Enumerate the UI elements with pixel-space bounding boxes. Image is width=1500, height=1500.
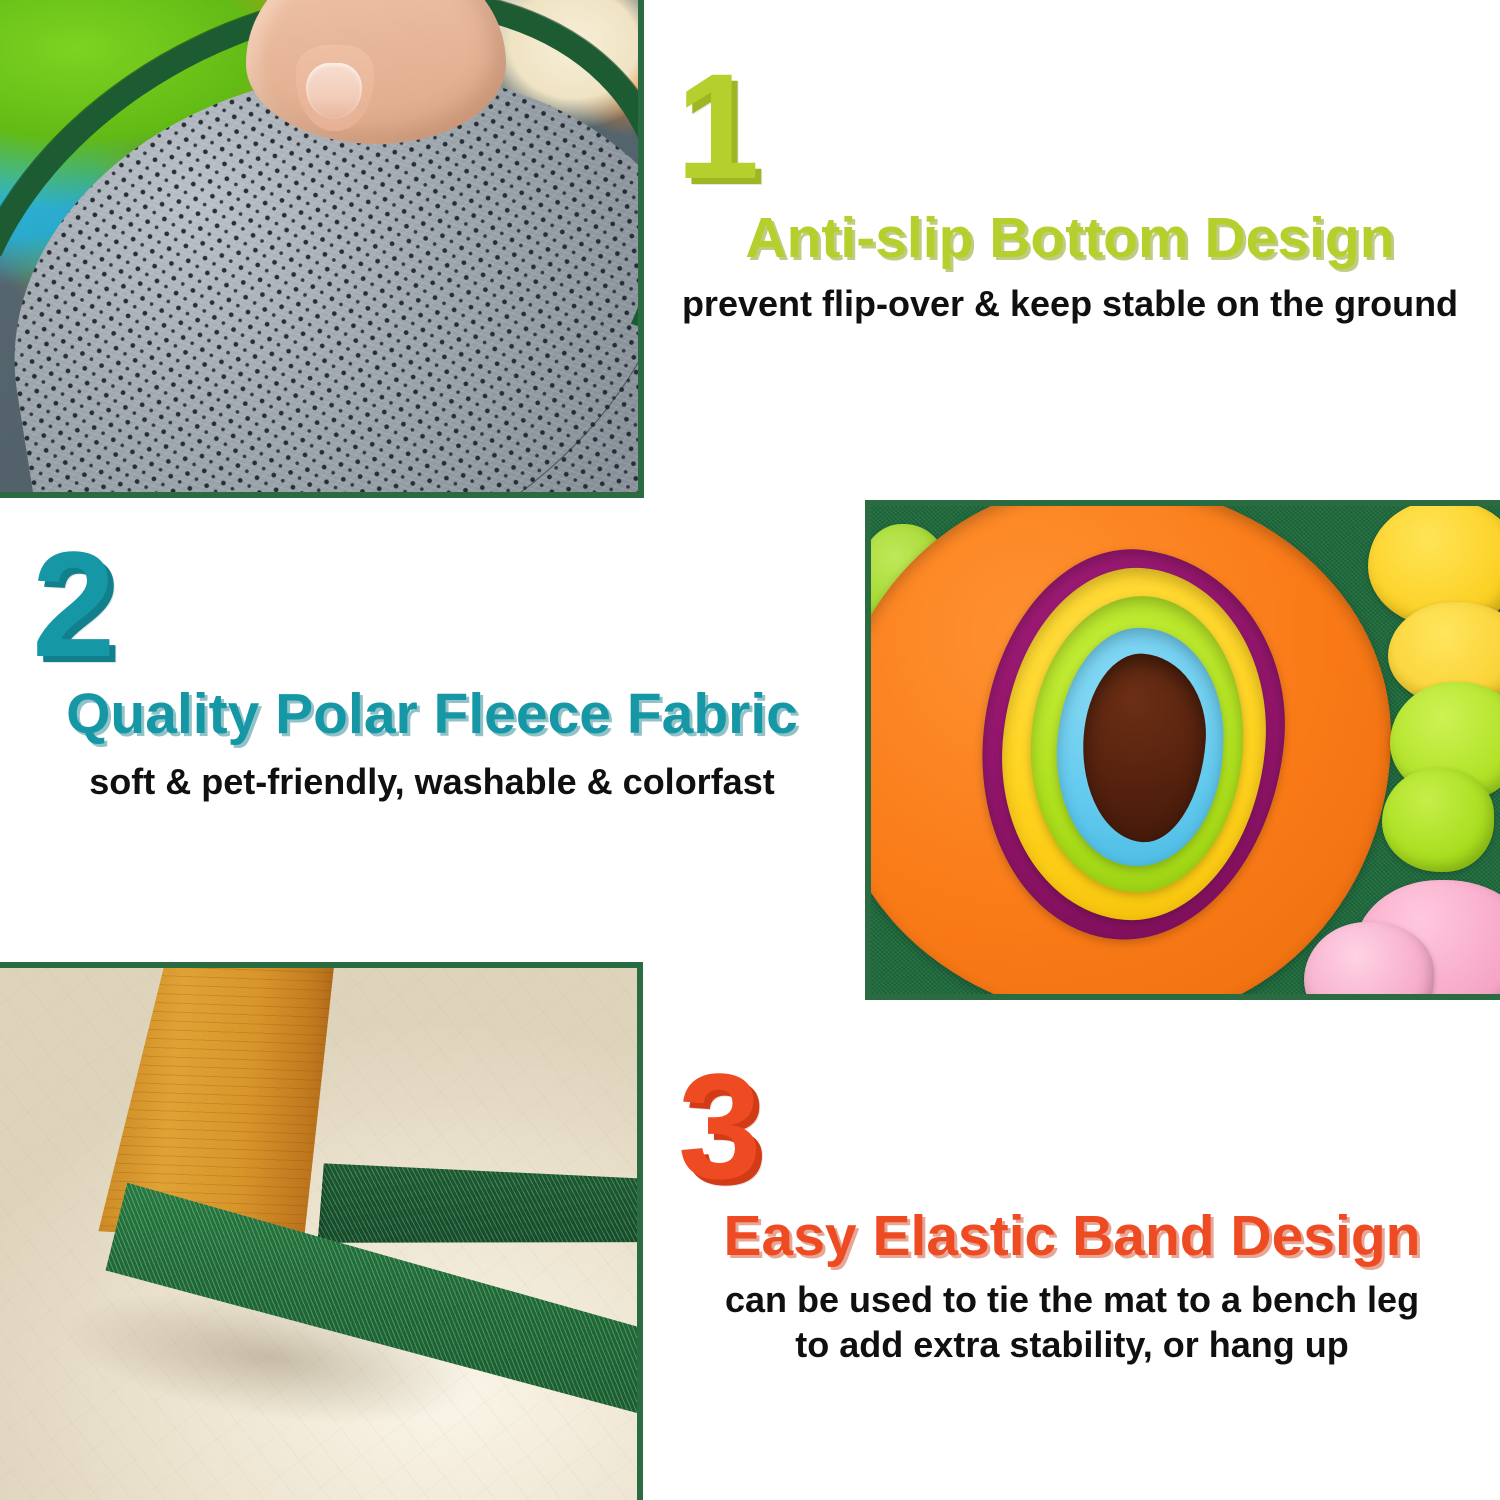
feature-subtitle-2-line-1: soft & pet-friendly, washable & colorfas… [22, 759, 842, 804]
feature-number-1: 1 [676, 62, 1480, 191]
feature-block-3: 3 Easy Elastic Band Design can be used t… [662, 1062, 1482, 1368]
feature-title-3: Easy Elastic Band Design [662, 1207, 1482, 1265]
anti-slip-bottom-photo [0, 0, 644, 498]
fleece-flower-closeup-photo [865, 500, 1500, 1000]
feature-block-2: 2 Quality Polar Fleece Fabric soft & pet… [22, 540, 842, 804]
lime-petal-lower [1382, 768, 1494, 872]
feature-subtitle-3-line-1: can be used to tie the mat to a bench le… [662, 1277, 1482, 1322]
feature-title-1: Anti-slip Bottom Design [660, 209, 1480, 267]
feature-number-2: 2 [32, 540, 842, 669]
feature-subtitle-3: can be used to tie the mat to a bench le… [662, 1277, 1482, 1368]
infographic-canvas: 1 Anti-slip Bottom Design prevent flip-o… [0, 0, 1500, 1500]
feature-block-1: 1 Anti-slip Bottom Design prevent flip-o… [660, 62, 1480, 326]
feature-subtitle-2: soft & pet-friendly, washable & colorfas… [22, 759, 842, 804]
feature-subtitle-1-line-1: prevent flip-over & keep stable on the g… [660, 281, 1480, 326]
elastic-band-bench-leg-photo [0, 962, 643, 1500]
feature-title-2: Quality Polar Fleece Fabric [22, 685, 842, 743]
feature-subtitle-3-line-2: to add extra stability, or hang up [662, 1322, 1482, 1367]
feature-subtitle-1: prevent flip-over & keep stable on the g… [660, 281, 1480, 326]
feature-number-3: 3 [678, 1062, 1482, 1191]
